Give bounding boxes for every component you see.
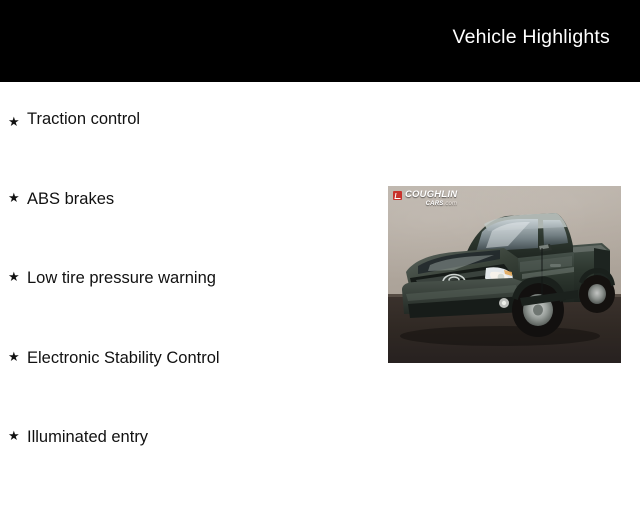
star-bullet-icon: ★: [8, 270, 20, 283]
list-item: ★ Low tire pressure warning: [0, 270, 370, 350]
feature-label: Traction control: [27, 111, 140, 128]
star-bullet-icon: ★: [8, 191, 20, 204]
slide-canvas: Vehicle Highlights ★ Traction control ★ …: [0, 0, 640, 480]
header-bar: Vehicle Highlights: [0, 0, 640, 82]
feature-label: ABS brakes: [27, 191, 114, 208]
page-title: Vehicle Highlights: [452, 28, 610, 48]
star-bullet-icon: ★: [8, 350, 20, 363]
star-bullet-icon: ★: [8, 429, 20, 442]
pickup-truck-image: [388, 186, 621, 363]
list-item: ★ Electronic Stability Control: [0, 350, 370, 430]
list-item: ★ Illuminated entry: [0, 429, 370, 509]
vehicle-photo: COUGHLIN CARS.com: [388, 186, 621, 363]
list-item: ★ Traction control: [0, 82, 370, 191]
feature-label: Illuminated entry: [27, 429, 148, 446]
list-item: ★ ABS brakes: [0, 191, 370, 271]
vehicle-features-list: ★ Traction control ★ ABS brakes ★ Low ti…: [0, 82, 370, 509]
feature-label: Electronic Stability Control: [27, 350, 220, 367]
star-bullet-icon: ★: [8, 115, 20, 128]
feature-label: Low tire pressure warning: [27, 270, 216, 287]
